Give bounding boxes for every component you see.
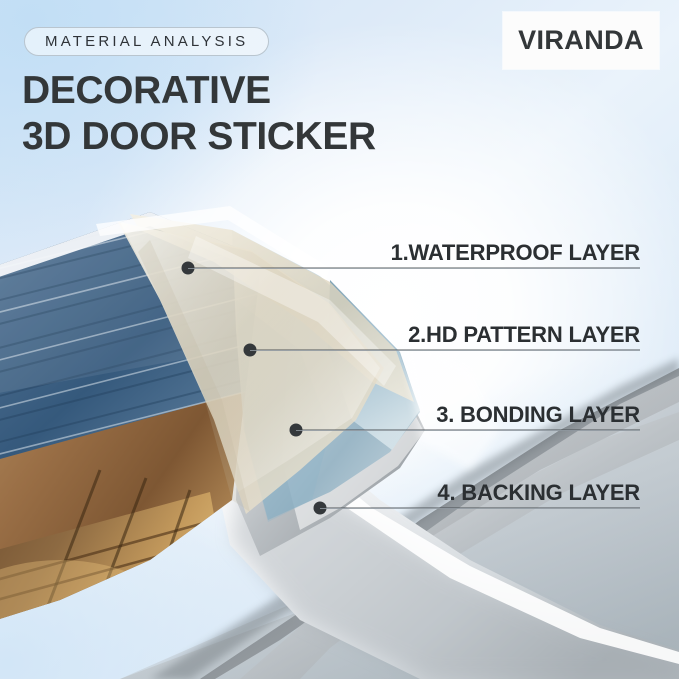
brand-name: VIRANDA — [518, 25, 644, 56]
page-title: DECORATIVE 3D DOOR STICKER — [22, 68, 376, 160]
callout-rule-backing — [320, 508, 640, 509]
callout-hd-pattern: 2.HD PATTERN LAYER — [408, 322, 640, 348]
title-line-2: 3D DOOR STICKER — [22, 114, 376, 160]
callout-rule-hd-pattern — [250, 350, 640, 351]
callout-label-backing: 4. BACKING LAYER — [437, 480, 640, 506]
callout-label-waterproof: 1.WATERPROOF LAYER — [391, 240, 640, 266]
callout-backing: 4. BACKING LAYER — [437, 480, 640, 506]
callout-bonding: 3. BONDING LAYER — [436, 402, 640, 428]
title-line-1: DECORATIVE — [22, 69, 271, 112]
material-analysis-infographic: MATERIAL ANALYSIS DECORATIVE 3D DOOR STI… — [0, 0, 679, 679]
callout-waterproof: 1.WATERPROOF LAYER — [391, 240, 640, 266]
material-analysis-badge: MATERIAL ANALYSIS — [24, 27, 269, 56]
badge-label: MATERIAL ANALYSIS — [45, 33, 248, 50]
callout-rule-waterproof — [188, 268, 640, 269]
callout-rule-bonding — [296, 430, 640, 431]
brand-logo-plate: VIRANDA — [503, 12, 659, 69]
callout-label-bonding: 3. BONDING LAYER — [436, 402, 640, 428]
callout-label-hd-pattern: 2.HD PATTERN LAYER — [408, 322, 640, 348]
